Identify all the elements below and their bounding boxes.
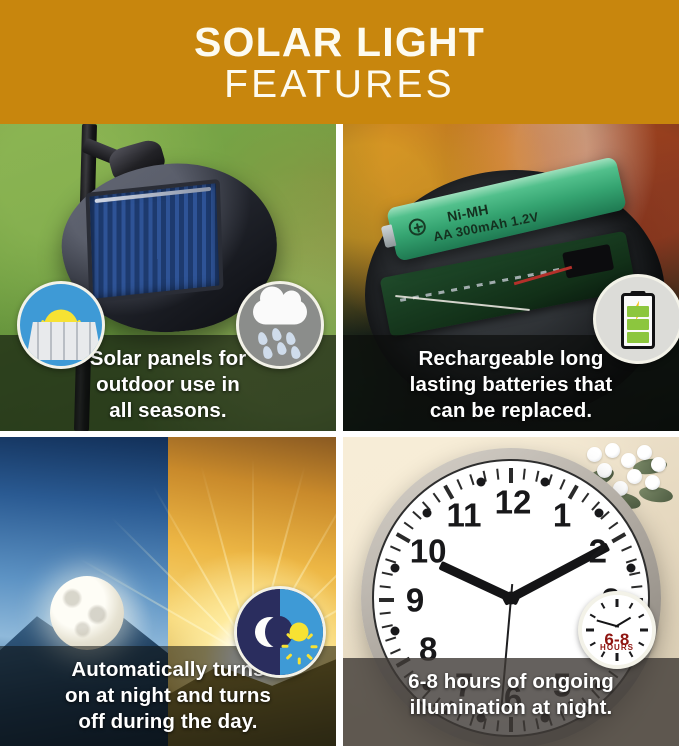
caption-line: can be replaced. (357, 398, 665, 424)
flower-bloom (645, 475, 660, 490)
wall-clock-numeral: 2 (589, 534, 607, 567)
wall-clock-tick (523, 468, 526, 479)
clock-face: 6-8 HOURS (582, 595, 652, 665)
wall-clock-tick (496, 468, 499, 479)
wall-clock-tick (509, 468, 513, 483)
wall-clock-tick (380, 585, 391, 588)
moon (50, 576, 124, 650)
caption-line: lasting batteries that (357, 372, 665, 398)
caption-line: outdoor use in (14, 372, 322, 398)
clock-tick (590, 614, 596, 619)
wall-clock-numeral: 9 (406, 583, 424, 616)
rain-cloud-icon (236, 281, 324, 369)
solar-panel-icon (17, 281, 105, 369)
wall-clock-center-pin (505, 591, 518, 604)
flower-bloom (651, 457, 666, 472)
wall-clock-tick (559, 479, 565, 490)
caption-line: off during the day. (14, 709, 322, 735)
flower-bloom (605, 443, 620, 458)
header-banner: SOLAR LIGHT FEATURES (0, 0, 679, 124)
wall-clock-tick (621, 545, 632, 551)
wall-clock-tick (581, 492, 589, 502)
flower-bloom (627, 469, 642, 484)
wall-clock-tick (535, 470, 539, 481)
wall-clock-tick (390, 545, 401, 551)
clock-tick (601, 651, 606, 657)
wall-clock-tick (382, 571, 393, 575)
wall-clock-numeral: 12 (495, 485, 532, 518)
raindrop-icon (284, 331, 296, 346)
wall-clock-tick (433, 492, 441, 502)
clock-minute-hand (596, 619, 619, 628)
wall-clock-tick (626, 558, 637, 563)
wall-clock-hour-dot (626, 564, 635, 573)
caption-line: on at night and turns (14, 683, 322, 709)
page-title-primary: SOLAR LIGHT (194, 22, 485, 64)
raindrop-icon (270, 327, 282, 342)
battery-body-icon (621, 293, 655, 349)
crescent-moon-icon (255, 617, 285, 647)
wall-clock-numeral: 11 (447, 498, 482, 531)
flower-bloom (621, 453, 636, 468)
sun-ray-icon (298, 629, 301, 636)
flower-bloom (587, 447, 602, 462)
wall-clock-tick (611, 532, 626, 543)
battery-bar (627, 306, 649, 317)
cloud-icon (253, 299, 307, 324)
clock-hours-unit: HOURS (582, 644, 652, 652)
wall-clock-tick (385, 636, 396, 641)
charging-battery-icon (593, 274, 679, 364)
wall-clock-hour-dot (540, 477, 549, 486)
wall-clock-tick (396, 532, 411, 543)
wall-clock-numeral: 10 (410, 534, 447, 567)
wall-clock-tick (412, 511, 422, 520)
solar-light-features-infographic: SOLAR LIGHT FEATURES Solar panels for ou… (0, 0, 679, 746)
sun-ray-icon (310, 645, 317, 648)
clock-tick (601, 603, 606, 609)
feature-grid: Solar panels for outdoor use in all seas… (0, 124, 679, 746)
wall-clock-tick (608, 521, 618, 529)
feature-card-runtime: 123456789101112 6-8 hours of ongoing ill… (343, 437, 679, 746)
raindrop-icon (256, 331, 268, 346)
page-title-secondary: FEATURES (224, 64, 455, 106)
wall-clock-tick (456, 479, 462, 490)
clock-tick (616, 653, 619, 661)
raindrop-icon (261, 345, 273, 360)
clock-tick (638, 614, 644, 619)
wall-clock-tick (390, 648, 401, 654)
sun-ray-icon (298, 658, 301, 665)
feature-card-solar-panels: Solar panels for outdoor use in all seas… (0, 124, 336, 431)
wall-clock-tick (631, 585, 642, 588)
panel-grid-icon (26, 322, 102, 360)
caption-line: illumination at night. (357, 695, 665, 721)
wall-clock-tick (469, 474, 474, 485)
wall-clock-tick (380, 611, 391, 614)
day-night-icon (234, 586, 326, 678)
caption-runtime: 6-8 hours of ongoing illumination at nig… (343, 658, 679, 746)
wall-clock-tick (379, 598, 394, 602)
clock-tick (629, 603, 634, 609)
wall-clock-numeral: 1 (553, 498, 571, 531)
battery-bar (627, 332, 649, 343)
clock-tick (629, 651, 634, 657)
sun-ray-icon (281, 645, 288, 648)
wall-clock-hour-dot (391, 564, 400, 573)
battery-bar (627, 319, 649, 330)
wall-clock-tick (385, 558, 396, 563)
raindrop-icon (289, 345, 301, 360)
circuit-component (562, 244, 614, 279)
clock-tick (616, 599, 619, 607)
wall-clock-hour-dot (422, 509, 431, 518)
flower-bloom (637, 445, 652, 460)
caption-line: 6-8 hours of ongoing (357, 669, 665, 695)
battery-positive-terminal-icon (407, 217, 427, 237)
photovoltaic-panel (85, 179, 223, 303)
wall-clock-tick (404, 521, 414, 529)
wall-clock-hour-dot (595, 509, 604, 518)
wall-clock-hour-dot (391, 627, 400, 636)
wall-clock-hour-dot (477, 477, 486, 486)
hours-clock-icon: 6-8 HOURS (578, 591, 656, 669)
caption-line: all seasons. (14, 398, 322, 424)
raindrop-icon (275, 341, 287, 356)
